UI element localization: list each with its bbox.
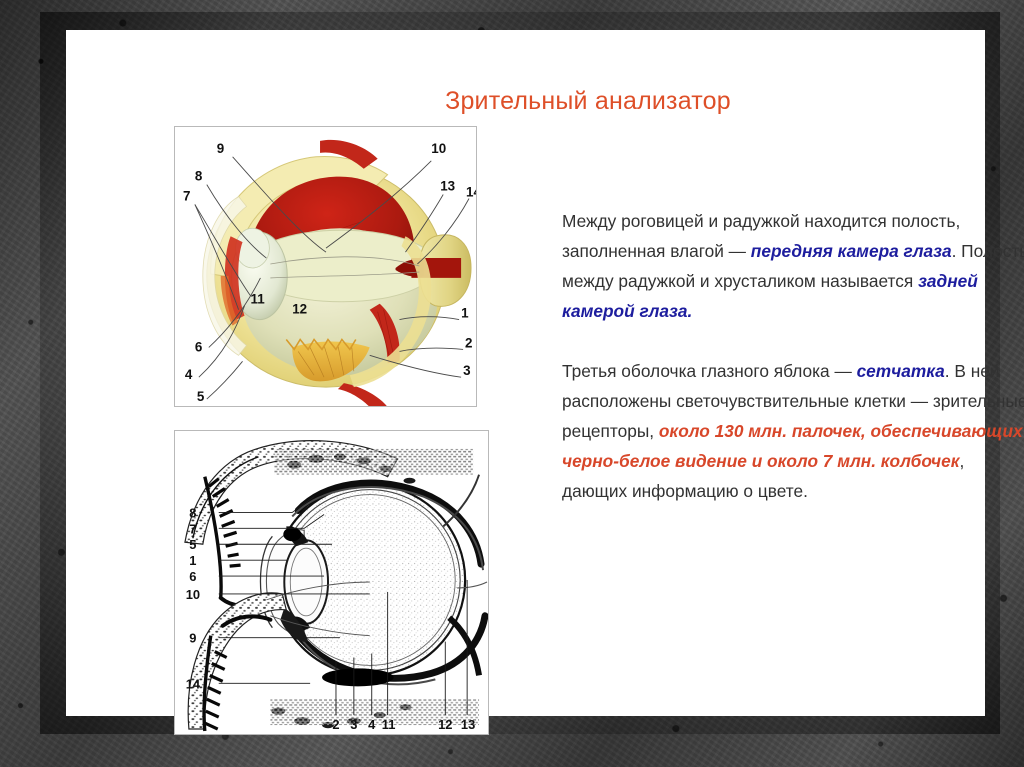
figure-label-12: 12 xyxy=(438,717,452,732)
page-title: Зрительный анализатор xyxy=(338,87,838,116)
figure-label-3: 3 xyxy=(350,717,357,732)
figure-label-11: 11 xyxy=(250,292,265,307)
p2-text-part1: Третья оболочка глазного яблока — xyxy=(562,361,857,381)
figure-label-8: 8 xyxy=(189,505,196,520)
eye-histology-bw-figure: 8 7 5 1 6 10 9 14 2 3 4 11 12 13 xyxy=(174,430,489,735)
figure-label-10: 10 xyxy=(431,141,446,156)
figure-label-13: 13 xyxy=(461,717,475,732)
figure-label-7: 7 xyxy=(189,521,196,536)
figure-label-2: 2 xyxy=(465,335,472,350)
figure-label-14: 14 xyxy=(186,676,201,691)
figure-label-1: 1 xyxy=(461,306,469,321)
p1-highlight-anterior-chamber: передняя камера глаза xyxy=(751,241,952,261)
paragraph-retina: Третья оболочка глазного яблока — сетчат… xyxy=(562,356,1024,506)
figure-label-13: 13 xyxy=(440,179,455,194)
figure-label-8: 8 xyxy=(195,169,203,184)
slide-canvas: Зрительный анализатор xyxy=(66,30,985,716)
figure-label-7: 7 xyxy=(183,188,190,203)
figure-label-5: 5 xyxy=(189,537,196,552)
p2-highlight-retina: сетчатка xyxy=(857,361,945,381)
figure-label-9: 9 xyxy=(217,141,224,156)
body-text-column: Между роговицей и радужкой находится пол… xyxy=(562,206,1024,536)
figure-label-6: 6 xyxy=(195,339,202,354)
eye-anatomy-color-figure: 9 10 8 13 14 7 11 12 1 6 2 4 3 5 xyxy=(174,126,477,407)
figure-label-5: 5 xyxy=(197,389,205,404)
eye-anatomy-color-svg: 9 10 8 13 14 7 11 12 1 6 2 4 3 5 xyxy=(175,127,476,406)
figure-label-6: 6 xyxy=(189,569,196,584)
figure-label-1: 1 xyxy=(189,553,196,568)
figure-label-10: 10 xyxy=(186,587,200,602)
figure-label-12: 12 xyxy=(292,302,307,317)
figure-label-4: 4 xyxy=(368,717,376,732)
figure-label-2: 2 xyxy=(332,717,339,732)
figure-label-9: 9 xyxy=(189,631,196,646)
eye-histology-bw-svg: 8 7 5 1 6 10 9 14 2 3 4 11 12 13 xyxy=(175,431,488,734)
figure-label-11: 11 xyxy=(382,717,396,732)
figure-label-4: 4 xyxy=(185,367,193,382)
figure-label-14: 14 xyxy=(466,185,476,200)
figure-label-3: 3 xyxy=(463,363,470,378)
paragraph-anterior-posterior-chamber: Между роговицей и радужкой находится пол… xyxy=(562,206,1024,326)
